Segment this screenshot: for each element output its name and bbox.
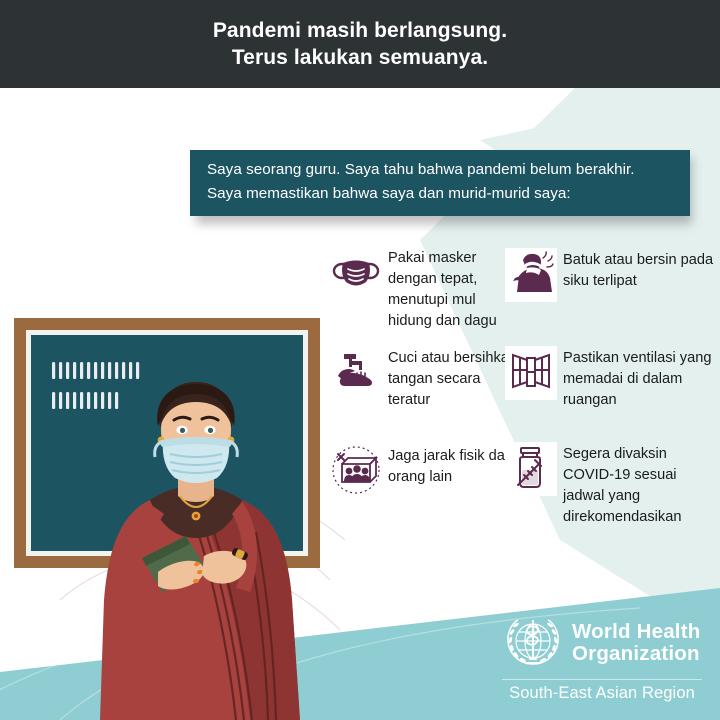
who-region-label: South-East Asian Region: [502, 684, 702, 703]
tip-cough-elbow: Batuk atau bersin pada siku terlipat: [505, 248, 720, 302]
tip-get-vaccinated-label: Segera divaksin COVID-19 sesuai jadwal y…: [563, 442, 720, 528]
tip-wear-mask: Pakai masker dengan tepat, menutupi mul …: [330, 246, 520, 332]
tip-cough-elbow-label: Batuk atau bersin pada siku terlipat: [563, 248, 720, 292]
header-line-2: Terus lakukan semuanya.: [232, 44, 488, 71]
vaccine-vial-icon: [505, 442, 557, 496]
tip-physical-distance-label: Jaga jarak fisik dari orang lain: [388, 444, 520, 488]
quote-line-1: Saya seorang guru. Saya tahu bahwa pande…: [207, 161, 635, 178]
who-logo-top: World Health Organization: [502, 612, 702, 674]
header-line-1: Pandemi masih berlangsung.: [213, 17, 507, 44]
teacher-illustration: [0, 300, 360, 720]
tip-get-vaccinated: Segera divaksin COVID-19 sesuai jadwal y…: [505, 442, 720, 528]
who-name-line-2: Organization: [572, 643, 700, 665]
who-wordmark: World Health Organization: [572, 621, 700, 665]
header-banner: Pandemi masih berlangsung. Terus lakukan…: [0, 0, 720, 88]
tip-ventilation: Pastikan ventilasi yang memadai di dalam…: [505, 346, 720, 411]
cough-into-elbow-icon: [505, 248, 557, 302]
who-logo: World Health Organization South-East Asi…: [502, 612, 702, 694]
tip-wash-hands-label: Cuci atau bersihkan tangan secara teratu…: [388, 346, 520, 411]
who-emblem-icon: [502, 612, 564, 674]
who-name-line-1: World Health: [572, 621, 700, 643]
open-window-icon: [505, 346, 557, 400]
handwashing-tap-icon: [330, 346, 382, 400]
tip-physical-distance: Jaga jarak fisik dari orang lain: [330, 444, 520, 498]
tip-ventilation-label: Pastikan ventilasi yang memadai di dalam…: [563, 346, 720, 411]
face-mask-icon: [330, 246, 382, 300]
teacher-illustration-svg: [0, 300, 360, 720]
prevention-tips-group: Pakai masker dengan tepat, menutupi mul …: [330, 246, 720, 546]
tip-wash-hands: Cuci atau bersihkan tangan secara teratu…: [330, 346, 520, 411]
quote-box: Saya seorang guru. Saya tahu bahwa pande…: [190, 150, 690, 216]
infographic-canvas: Pandemi masih berlangsung. Terus lakukan…: [0, 0, 720, 720]
avoid-crowds-icon: [330, 444, 382, 498]
quote-line-2: Saya memastikan bahwa saya dan murid-mur…: [207, 185, 571, 202]
tip-wear-mask-label: Pakai masker dengan tepat, menutupi mul …: [388, 246, 520, 332]
who-divider: [502, 679, 702, 680]
